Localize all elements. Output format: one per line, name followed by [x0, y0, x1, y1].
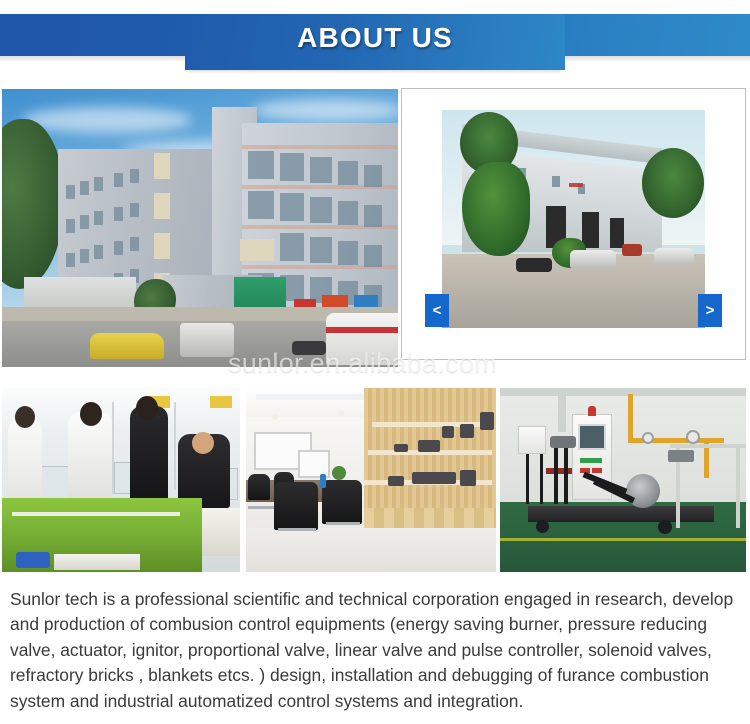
frame-post — [540, 454, 543, 504]
parked-van — [180, 323, 234, 357]
window — [338, 201, 358, 225]
window — [66, 219, 75, 233]
banana-plant — [462, 162, 530, 256]
parked-motorcycle — [516, 258, 552, 272]
office-chair — [248, 474, 270, 500]
test-rig-frame — [736, 444, 740, 528]
window — [248, 151, 274, 179]
page-title: ABOUT US — [185, 14, 565, 62]
person-head — [15, 406, 35, 428]
workshop-door — [582, 212, 599, 248]
valve-product — [460, 470, 476, 486]
parked-car-dark — [292, 341, 326, 355]
pressure-gauge — [642, 432, 654, 444]
staff-person — [68, 412, 112, 508]
water-bottle — [320, 474, 326, 488]
stacked-books — [54, 554, 140, 570]
gallery-prev-button[interactable]: < — [425, 294, 449, 327]
valve-product — [480, 412, 494, 430]
downlight — [272, 414, 278, 420]
tiled-floor — [246, 528, 496, 572]
office-chair — [274, 482, 318, 530]
window — [338, 241, 358, 265]
gallery-thumbnail-row — [0, 388, 750, 572]
window — [130, 237, 139, 251]
window — [338, 161, 358, 185]
gallery-next-button[interactable]: > — [698, 294, 722, 327]
cloud-shape — [22, 107, 192, 133]
caster-wheel — [658, 520, 672, 534]
parked-truck — [622, 244, 642, 256]
window — [80, 215, 89, 229]
window — [310, 197, 332, 223]
window — [364, 245, 382, 267]
frame-post — [554, 444, 558, 504]
window — [94, 211, 103, 225]
facade-panel — [240, 239, 274, 261]
gallery-framed-slide — [401, 88, 746, 360]
window — [280, 153, 304, 181]
storefront-sign-green — [234, 277, 286, 311]
window — [310, 237, 332, 263]
window — [280, 233, 304, 261]
window — [66, 253, 75, 267]
staff-person — [130, 406, 168, 506]
page-header-banner: ABOUT US — [0, 0, 750, 88]
meeting-room-product-showroom[interactable] — [246, 388, 496, 572]
factory-workshop-exterior — [442, 110, 705, 328]
facade-panel — [154, 233, 170, 259]
valve-assembly — [550, 436, 576, 448]
ceiling-beam — [500, 388, 746, 396]
person-head — [80, 402, 102, 426]
test-rig-frame — [670, 444, 746, 448]
gas-pipe — [628, 394, 633, 442]
storefront-sign-orange — [322, 295, 348, 307]
partition-post — [174, 402, 176, 490]
downlight — [338, 410, 344, 416]
chair-leg — [278, 528, 316, 531]
person-head — [192, 432, 214, 454]
office-chair — [322, 480, 362, 524]
window — [94, 245, 103, 259]
auxiliary-cabinet — [518, 426, 546, 454]
wall-signage — [569, 183, 583, 187]
ceiling-light — [256, 394, 376, 400]
staff-person — [8, 418, 42, 506]
window — [114, 207, 123, 221]
storefront-sign-blue — [354, 295, 378, 307]
window — [248, 191, 274, 219]
window — [280, 193, 304, 221]
window — [364, 165, 382, 187]
window — [310, 157, 332, 183]
valve-assembly — [668, 450, 694, 462]
desk-tray — [16, 552, 50, 568]
yellow-taxi — [90, 333, 164, 359]
window — [130, 203, 139, 217]
window — [364, 205, 382, 227]
office-staff-workstations[interactable] — [2, 388, 240, 572]
vehicle-stripe — [326, 327, 398, 333]
window — [94, 177, 103, 191]
cloud-shape — [252, 99, 398, 121]
window — [552, 176, 560, 187]
hmi-touchscreen — [578, 424, 606, 450]
frame-post — [526, 454, 529, 504]
status-indicator — [580, 458, 602, 463]
parked-car — [570, 250, 616, 268]
company-office-building-exterior — [2, 89, 398, 367]
facade-band — [242, 145, 398, 149]
window — [114, 241, 123, 255]
display-shelf — [372, 422, 492, 427]
caster-wheel — [536, 520, 549, 533]
alarm-beacon — [588, 406, 596, 416]
floor-marking — [500, 538, 746, 541]
window — [66, 185, 75, 199]
pressure-gauge — [686, 430, 700, 444]
person-head — [136, 396, 158, 420]
valve-product — [460, 424, 474, 438]
facade-panel — [154, 153, 170, 179]
roadside-tree — [642, 148, 704, 218]
window — [80, 181, 89, 195]
window — [80, 249, 89, 263]
status-indicator — [592, 468, 602, 473]
window — [130, 169, 139, 183]
valve-product — [442, 426, 454, 438]
valve-product — [388, 476, 404, 486]
valve-product — [418, 440, 440, 452]
frame-post — [564, 444, 568, 504]
combustion-control-test-equipment[interactable] — [500, 388, 746, 572]
about-description: Sunlor tech is a professional scientific… — [0, 575, 750, 724]
support-column — [558, 388, 566, 432]
potted-plant — [332, 466, 346, 480]
partition-rail — [12, 512, 180, 516]
workshop-door — [610, 218, 624, 248]
equipment-skid-base — [528, 506, 714, 522]
facade-panel — [154, 193, 170, 219]
aisle-tag — [210, 396, 232, 408]
red-hose — [546, 468, 572, 474]
valve-product — [394, 444, 408, 452]
stacked-books — [202, 508, 240, 556]
white-ambulance — [326, 313, 398, 365]
valve-product — [412, 472, 456, 484]
gallery-top-row: < > — [0, 88, 750, 370]
chair-leg — [248, 506, 274, 509]
window — [114, 173, 123, 187]
parked-car — [654, 248, 694, 265]
chair-leg — [326, 522, 360, 525]
